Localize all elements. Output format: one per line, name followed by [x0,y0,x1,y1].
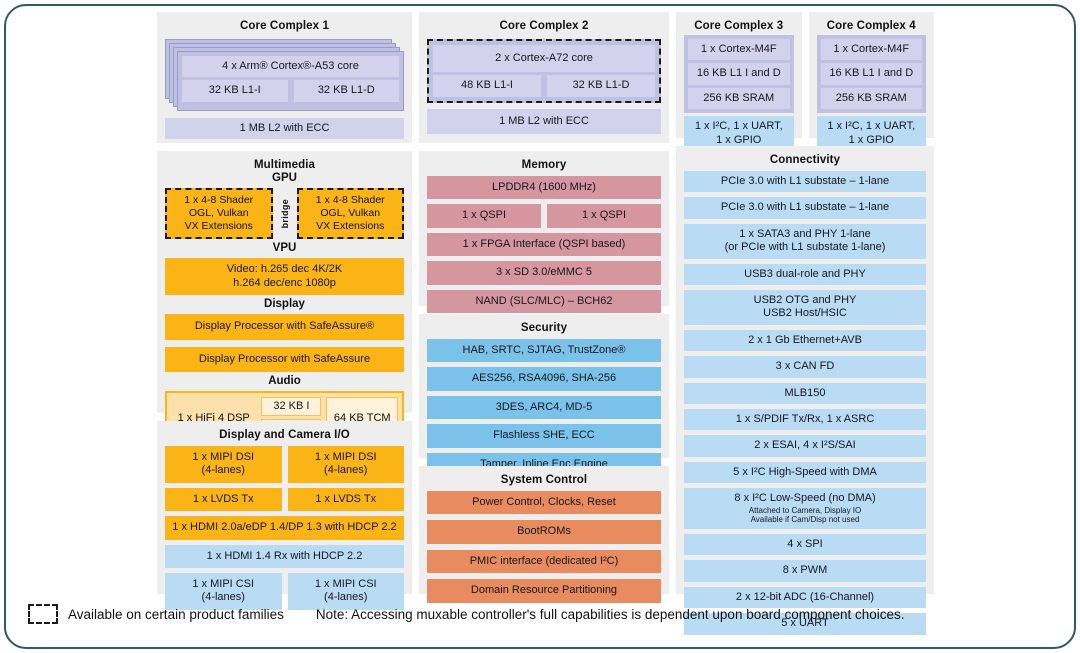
security-cell: 3DES, ARC4, MD-5 [427,396,661,419]
connectivity-cell: 1 x S/PDIF Tx/Rx, 1 x ASRC [684,409,926,430]
cc3-l1-cell: 16 KB L1 I and D [688,63,790,84]
audio-icache-cell: 32 KB I [261,397,321,416]
memory-cell: 3 x SD 3.0/eMMC 5 [427,261,661,284]
cc4-sram-cell: 256 KB SRAM [821,88,923,109]
vpu-title: VPU [165,239,404,258]
connectivity-cell: PCIe 3.0 with L1 substate – 1-lane [684,197,926,218]
memory-cell: NAND (SLC/MLC) – BCH62 [427,290,661,313]
memory-title: Memory [427,157,661,176]
system-control-rows: Power Control, Clocks, ResetBootROMsPMIC… [427,491,661,603]
memory-cell: 1 x FPGA Interface (QSPI based) [427,233,661,256]
connectivity-cell: USB2 OTG and PHY USB2 Host/HSIC [684,290,926,325]
display-camera-io-cell: 1 x MIPI DSI (4-lanes) [165,446,282,483]
security-cell: Flashless SHE, ECC [427,424,661,447]
connectivity-cell: 3 x CAN FD [684,356,926,377]
connectivity-rows: PCIe 3.0 with L1 substate – 1-lanePCIe 3… [684,171,926,635]
audio-title: Audio [165,372,404,391]
gpu-block-right: 1 x 4-8 Shader OGL, Vulkan VX Extensions [297,188,405,239]
display-camera-io-title: Display and Camera I/O [165,427,404,446]
vpu-cell: Video: h.265 dec 4K/2K h.264 dec/enc 108… [165,258,404,295]
core-complex-1-stack: 4 x Arm® Cortex®-A53 core 32 KB L1-I 32 … [165,39,404,111]
memory-cell: 1 x QSPI [547,204,661,227]
gpu-row: 1 x 4-8 Shader OGL, Vulkan VX Extensions… [165,188,404,239]
display-camera-io-cell: 1 x LVDS Tx [288,488,405,511]
memory-cell: 1 x QSPI [427,204,541,227]
cc1-l1d-cell: 32 KB L1-D [294,80,400,101]
connectivity-cell: 1 x SATA3 and PHY 1-lane (or PCIe with L… [684,224,926,259]
cc3-cpu-cell: 1 x Cortex-M4F [688,39,790,60]
panel-core-complex-4: Core Complex 4 1 x Cortex-M4F 16 KB L1 I… [809,12,935,138]
core-complex-1-title: Core Complex 1 [165,18,404,37]
soc-block-diagram: Core Complex 1 4 x Arm® Cortex®-A53 core… [157,12,935,594]
connectivity-cell: 4 x SPI [684,534,926,555]
display-processor-2: Display Processor with SafeAssure [165,347,404,372]
display-camera-io-cell: 1 x LVDS Tx [165,488,282,511]
security-title: Security [427,320,661,339]
cc1-l1i-cell: 32 KB L1-I [182,80,288,101]
panel-display-camera-io: Display and Camera I/O 1 x MIPI DSI (4-l… [157,421,412,594]
cc2-core-cell: 2 x Cortex-A72 core [433,45,655,72]
display-camera-io-row: 1 x MIPI DSI (4-lanes)1 x MIPI DSI (4-la… [165,446,404,483]
panel-security: Security HAB, SRTC, SJTAG, TrustZone®AES… [419,314,669,458]
legend-dashed-swatch [28,604,58,624]
cc1-l2-cell: 1 MB L2 with ECC [165,118,404,139]
core-complex-3-title: Core Complex 3 [684,18,794,35]
system-control-title: System Control [427,472,661,491]
cc3-sram-cell: 256 KB SRAM [688,88,790,109]
cc4-cpu-cell: 1 x Cortex-M4F [821,39,923,60]
connectivity-cell: 5 x I²C High-Speed with DMA [684,462,926,483]
connectivity-cell: MLB150 [684,383,926,404]
panel-connectivity: Connectivity PCIe 3.0 with L1 substate –… [676,146,934,594]
gpu-title: GPU [165,172,404,188]
gpu-block-left: 1 x 4-8 Shader OGL, Vulkan VX Extensions [165,188,273,239]
connectivity-cell: 2 x 1 Gb Ethernet+AVB [684,330,926,351]
display-camera-io-row: 1 x LVDS Tx1 x LVDS Tx [165,488,404,511]
display-camera-io-rows: 1 x MIPI DSI (4-lanes)1 x MIPI DSI (4-la… [165,446,404,610]
core-complex-4-title: Core Complex 4 [817,18,927,35]
column-left: Core Complex 1 4 x Arm® Cortex®-A53 core… [157,12,412,594]
system-control-cell: PMIC interface (dedicated I²C) [427,550,661,573]
core-complex-2-cluster: 2 x Cortex-A72 core 48 KB L1-I 32 KB L1-… [427,39,661,103]
connectivity-cell: 8 x I²C Low-Speed (no DMA)Attached to Ca… [684,488,926,529]
cc3-cluster: 1 x Cortex-M4F 16 KB L1 I and D 256 KB S… [684,35,794,113]
connectivity-title: Connectivity [684,152,926,171]
connectivity-cell: PCIe 3.0 with L1 substate – 1-lane [684,171,926,192]
core-complex-2-title: Core Complex 2 [427,18,661,37]
system-control-cell: BootROMs [427,520,661,543]
column-middle: Core Complex 2 2 x Cortex-A72 core 48 KB… [419,12,669,594]
display-camera-io-cell: 1 x MIPI DSI (4-lanes) [288,446,405,483]
legend-note: Note: Accessing muxable controller's ful… [316,607,905,622]
cc2-l1d-cell: 32 KB L1-D [547,75,655,96]
memory-rows: LPDDR4 (1600 MHz)1 x QSPI1 x QSPI1 x FPG… [427,176,661,313]
security-rows: HAB, SRTC, SJTAG, TrustZone®AES256, RSA4… [427,339,661,476]
gpu-bridge-label: bridge [278,188,292,239]
panel-core-complex-3: Core Complex 3 1 x Cortex-M4F 16 KB L1 I… [676,12,802,138]
cc4-l1-cell: 16 KB L1 I and D [821,63,923,84]
connectivity-cell: USB3 dual-role and PHY [684,264,926,285]
system-control-cell: Power Control, Clocks, Reset [427,491,661,514]
display-processor-1: Display Processor with SafeAssure® [165,314,404,339]
panel-multimedia: Multimedia GPU 1 x 4-8 Shader OGL, Vulka… [157,151,412,413]
security-cell: AES256, RSA4096, SHA-256 [427,367,661,390]
cc4-cluster: 1 x Cortex-M4F 16 KB L1 I and D 256 KB S… [817,35,927,113]
legend-swatch-label: Available on certain product families [68,607,284,622]
cc1-core-cell: 4 x Arm® Cortex®-A53 core [182,56,399,77]
memory-row: 1 x QSPI1 x QSPI [427,204,661,227]
panel-system-control: System Control Power Control, Clocks, Re… [419,466,669,594]
column-right: Core Complex 3 1 x Cortex-M4F 16 KB L1 I… [676,12,934,594]
memory-cell: LPDDR4 (1600 MHz) [427,176,661,199]
connectivity-cell: 8 x PWM [684,560,926,581]
cc2-l2-cell: 1 MB L2 with ECC [427,109,661,134]
security-cell: HAB, SRTC, SJTAG, TrustZone® [427,339,661,362]
connectivity-cell: 2 x ESAI, 4 x I²S/SAI [684,435,926,456]
stack-sheet-front: 4 x Arm® Cortex®-A53 core 32 KB L1-I 32 … [177,51,404,111]
connectivity-cell-note: Attached to Camera, Display IO Available… [686,506,924,525]
multimedia-title: Multimedia [165,157,404,172]
display-title: Display [165,295,404,314]
legend: Available on certain product families No… [28,604,1058,624]
diagram-frame: Core Complex 1 4 x Arm® Cortex®-A53 core… [4,4,1076,649]
display-camera-io-cell: 1 x HDMI 2.0a/eDP 1.4/DP 1.3 with HDCP 2… [165,516,404,539]
panel-core-complex-2: Core Complex 2 2 x Cortex-A72 core 48 KB… [419,12,669,143]
panel-memory: Memory LPDDR4 (1600 MHz)1 x QSPI1 x QSPI… [419,151,669,306]
core-complex-3-4-row: Core Complex 3 1 x Cortex-M4F 16 KB L1 I… [676,12,934,138]
system-control-cell: Domain Resource Partitioning [427,579,661,602]
panel-core-complex-1: Core Complex 1 4 x Arm® Cortex®-A53 core… [157,12,412,143]
display-camera-io-cell: 1 x HDMI 1.4 Rx with HDCP 2.2 [165,545,404,568]
cc2-l1i-cell: 48 KB L1-I [433,75,541,96]
